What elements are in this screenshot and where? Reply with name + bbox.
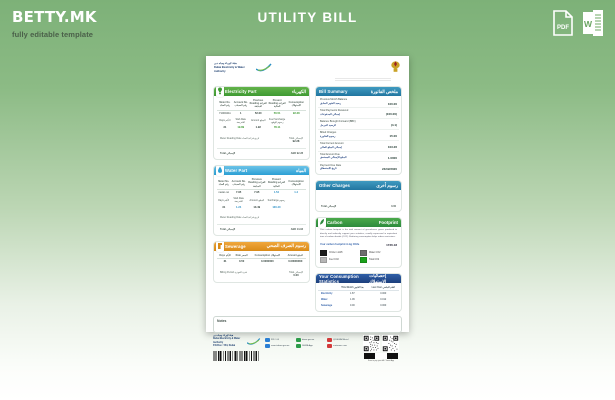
col-head: Amount المبلغ (247, 196, 267, 205)
consumption-stats-card: Your Consumption Statistics إحصائيات الا… (315, 273, 402, 312)
water-drop-icon (216, 165, 224, 176)
footer-address: P.O.Box : 564, Dubai (213, 345, 245, 348)
electricity-bulb-icon (216, 86, 224, 97)
col-head: Previous Reading القراءة السابقة (249, 98, 268, 110)
summary-row: Payment Due Dateتاريخ الاستحقاق 24/02/20… (318, 162, 399, 172)
carbon-title-ar: Footprint (379, 220, 398, 225)
billing-summary-card: Bill Summary ملخص الفاتورة Previous Mont… (315, 86, 402, 175)
contact-item[interactable]: dewa.gov.ae (296, 338, 325, 343)
water-header: Water Part المياه (214, 166, 309, 175)
col-head: Account No. رقم الحساب (233, 98, 249, 110)
sewerage-foot-left: Billing Period فترة الفوترة (220, 271, 247, 278)
document-footer: هيئة كهرباء ومياه دبي Dubai Electricity … (206, 333, 409, 362)
col-head: Meter No. رقم العداد (217, 98, 233, 110)
table-header-row: Meter No. رقم العداد Account No. رقم الح… (217, 98, 306, 110)
legend-item: Total CO2 (360, 257, 397, 263)
sewerage-card: Sewerage رسوم الصرف الصحي Days الأيام Ra… (213, 241, 310, 283)
leaf-icon (318, 217, 326, 228)
summary-value: 15.00 (389, 134, 397, 138)
legend-item: CO2e in kWh (320, 250, 357, 256)
summary-label-ar: المبلغ الإجمالي المستحق (320, 156, 346, 160)
bill-document: هيئة كهرباء ومياه دبي Dubai Electricity … (206, 56, 409, 332)
summary-label-en: Balance Brought Forward (BBF) (320, 120, 356, 123)
summary-label-ar: إجمالي المبلغ الحالي (320, 146, 343, 150)
electricity-meter-table: Meter No. رقم العداد Account No. رقم الح… (217, 98, 306, 131)
billing-title-en: Bill Summary (319, 89, 348, 94)
qr-block: Scan to pay your bill / Smart App (360, 335, 402, 362)
qr-caption: Scan to pay your bill / Smart App (368, 360, 394, 362)
notes-label: Notes (217, 319, 398, 323)
legend-label: Total CO2 (369, 259, 379, 261)
summary-value: 103.26 (388, 145, 397, 149)
col-head: Consumption الاستهلاك (286, 177, 306, 189)
carbon-footprint-card: Carbon Footprint Your carbon footprint i… (315, 217, 402, 268)
contact-item[interactable]: customer care (327, 344, 356, 349)
notes-box[interactable]: Notes (213, 316, 402, 333)
electricity-total-value: AED 92.28 (291, 152, 303, 155)
contact-item[interactable]: DEWA App (296, 344, 325, 349)
col-head: Days الأيام (217, 117, 233, 126)
col-head: Present Reading القراءة الحالية (268, 98, 287, 110)
billing-summary-header: Bill Summary ملخص الفاتورة (316, 87, 401, 96)
other-charges-title-ar: رسوم أخرى (376, 183, 398, 189)
swoosh-icon (256, 63, 272, 72)
carbon-main-value: 1726.18 (386, 243, 397, 247)
company-logo: هيئة كهرباء ومياه دبي Dubai Electricity … (214, 62, 272, 73)
sewerage-pipe-icon (216, 241, 224, 252)
carbon-legend: CO2e in kWh Water CO2 Fuel CO2 Total CO2 (318, 249, 399, 266)
electricity-title-en: Electricity Part (225, 89, 257, 94)
summary-row: Billed Chargesرسوم الفاتورة 15.00 (318, 130, 399, 141)
water-foot-left: Meter Reading Date تاريخ قراءة العداد (220, 216, 259, 219)
legend-item: Water CO2 (360, 250, 397, 256)
brand-tagline: fully editable template (12, 30, 97, 39)
carbon-main-label: Your carbon footprint in kg CO2e (320, 243, 359, 247)
summary-row: Total Payments Receivedإجمالي المدفوعات … (318, 108, 399, 119)
cell: 0.00 (337, 302, 367, 308)
contact-item[interactable]: @DEWAOfficial (327, 338, 356, 343)
water-meter-table: Meter No. رقم العداد Account No. رقم الح… (217, 177, 306, 210)
electricity-card: Electricity Part الكهرباء Meter No. رقم … (213, 86, 310, 160)
summary-label-ar: رصيد الشهر السابق (320, 102, 347, 106)
uae-emblem-icon (390, 60, 401, 73)
barcode (213, 351, 259, 361)
pdf-icon[interactable]: PDF (552, 10, 574, 36)
contact-list: 991 / 04 dewa.gov.ae @DEWAOfficial smart… (265, 335, 356, 349)
cell: 0.000 (368, 302, 399, 308)
contact-label: @DEWAOfficial (333, 339, 348, 341)
contact-label: dewa.gov.ae (302, 339, 314, 341)
consumption-header: Your Consumption Statistics إحصائيات الا… (316, 274, 401, 283)
summary-value: 1.0000 (388, 156, 397, 160)
summary-value: 24/02/2020 (382, 167, 397, 171)
table-header-row-2: Days الأيام Slab Rate الشريحة Amount الم… (217, 117, 306, 126)
electricity-foot-left: Meter Reading Date تاريخ قراءة العداد (220, 137, 259, 144)
qr-code-icon[interactable] (363, 335, 380, 352)
sewerage-title-en: Sewerage (225, 244, 246, 249)
footer-logo-block: هيئة كهرباء ومياه دبي Dubai Electricity … (213, 335, 261, 361)
contact-item[interactable]: 991 / 04 (265, 338, 294, 343)
other-charges-header: Other Charges رسوم أخرى (316, 181, 401, 190)
top-bar: BETTY.MK fully editable template UTILITY… (0, 0, 615, 50)
contact-label: 991 / 04 (271, 339, 279, 341)
col-head: Surcharge رسوم (267, 196, 287, 205)
contact-label: DEWA App (302, 345, 313, 347)
col-head: Days الأيام (217, 196, 230, 205)
consumption-title-en: Your Consumption Statistics (319, 274, 369, 284)
document-header: هيئة كهرباء ومياه دبي Dubai Electricity … (206, 56, 409, 86)
col-head: Present Reading القراءة الحالية (267, 177, 287, 189)
summary-label-en: Total Current Amount (320, 142, 343, 145)
carbon-header: Carbon Footprint (316, 218, 401, 227)
sewerage-header: Sewerage رسوم الصرف الصحي (214, 242, 309, 251)
qr-code-icon[interactable] (382, 335, 399, 352)
footer-swoosh-icon (247, 337, 261, 346)
col-head: Meter No. رقم العداد (217, 177, 230, 189)
electricity-total-label: Total الإجمالي (220, 152, 235, 155)
header-faint-lines (335, 78, 391, 81)
billing-title-ar: ملخص الفاتورة (371, 89, 398, 95)
other-charges-total-label: Total الإجمالي (321, 205, 336, 208)
col-head: Amount المبلغ (249, 117, 268, 126)
summary-label-ar: تاريخ الاستحقاق (320, 167, 341, 171)
footer-company-en: Dubai Electricity & Water Authority (213, 338, 245, 345)
legend-item: Fuel CO2 (320, 257, 357, 263)
summary-row: Total Current Amountإجمالي المبلغ الحالي… (318, 141, 399, 152)
legend-label: Fuel CO2 (329, 259, 339, 261)
summary-label-en: Total Payments Received (320, 109, 348, 112)
water-total-label: Total الإجمالي (220, 228, 235, 231)
app-store-badges[interactable] (364, 353, 398, 359)
water-title-en: Water Part (225, 168, 247, 173)
col-head: Previous Reading القراءة السابقة (247, 177, 267, 189)
other-charges-total-value: 0.00 (391, 205, 396, 208)
summary-label-en: Previous Month Balance (320, 98, 347, 101)
summary-value: (4.1) (391, 123, 397, 127)
summary-row: Previous Month Balanceرصيد الشهر السابق … (318, 97, 399, 108)
consumption-title-ar: إحصائيات الاستهلاك (369, 273, 398, 285)
sewerage-table: Days الأيام Rate السعر Consumption الاست… (217, 253, 306, 265)
summary-label-ar: الرصيد المرحل (320, 124, 356, 128)
contact-label: customer care (333, 345, 347, 347)
format-icons: PDF W (552, 10, 603, 36)
table-header-row: Meter No. رقم العداد Account No. رقم الح… (217, 177, 306, 189)
carbon-title-en: Carbon (327, 220, 343, 225)
summary-row: Total Amount Dueالمبلغ الإجمالي المستحق … (318, 152, 399, 163)
contact-item[interactable]: smart.dewa.gov.ae (265, 344, 294, 349)
company-name-en: Dubai Electricity & Water Authority (214, 66, 254, 74)
col-head: Slab Rate الشريحة (233, 117, 249, 126)
contact-label: smart.dewa.gov.ae (271, 345, 289, 347)
col-head: Slab Rate الشريحة (230, 196, 247, 205)
water-card: Water Part المياه Meter No. رقم العداد A… (213, 165, 310, 235)
col-head: Fuel Surcharge رسوم الوقود (268, 117, 287, 126)
svg-text:PDF: PDF (557, 25, 569, 31)
table-header-row-2: Days الأيام Slab Rate الشريحة Amount الم… (217, 196, 306, 205)
sewerage-title-ar: رسوم الصرف الصحي (267, 243, 306, 249)
col-head: Consumption الاستهلاك (287, 98, 306, 110)
other-charges-card: Other Charges رسوم أخرى Total الإجمالي 0… (315, 180, 402, 212)
cell: Sewerage (318, 302, 337, 308)
summary-label-en: Billed Charges (320, 131, 336, 134)
word-icon[interactable]: W (581, 10, 603, 36)
table-row: Sewerage 0.00 0.000 (318, 302, 399, 308)
legend-label: Water CO2 (369, 252, 380, 254)
legend-label: CO2e in kWh (329, 252, 343, 254)
summary-value: 100.00 (388, 102, 397, 106)
summary-value: (100.00) (386, 112, 397, 116)
col-head: Account No. رقم الحساب (230, 177, 247, 189)
electricity-header: Electricity Part الكهرباء (214, 87, 309, 96)
other-charges-title-en: Other Charges (319, 183, 350, 188)
water-title-ar: المياه (296, 168, 306, 174)
summary-label-ar: رسوم الفاتورة (320, 135, 336, 139)
svg-text:W: W (584, 19, 593, 29)
carbon-body-text: Your carbon footprint is the total amoun… (318, 228, 399, 241)
summary-label-ar: إجمالي المدفوعات (320, 113, 348, 117)
consumption-table: This Month هذا الشهر Last Year العام الم… (318, 284, 399, 308)
electricity-foot-right-value: 92.28 (293, 140, 300, 143)
page-title: UTILITY BILL (0, 10, 615, 25)
water-total-value: AED 14.93 (291, 228, 303, 231)
sewerage-total-value: 0.00 (293, 274, 298, 277)
summary-row: Balance Brought Forward (BBF)الرصيد المر… (318, 119, 399, 130)
electricity-title-ar: الكهرباء (292, 89, 306, 95)
